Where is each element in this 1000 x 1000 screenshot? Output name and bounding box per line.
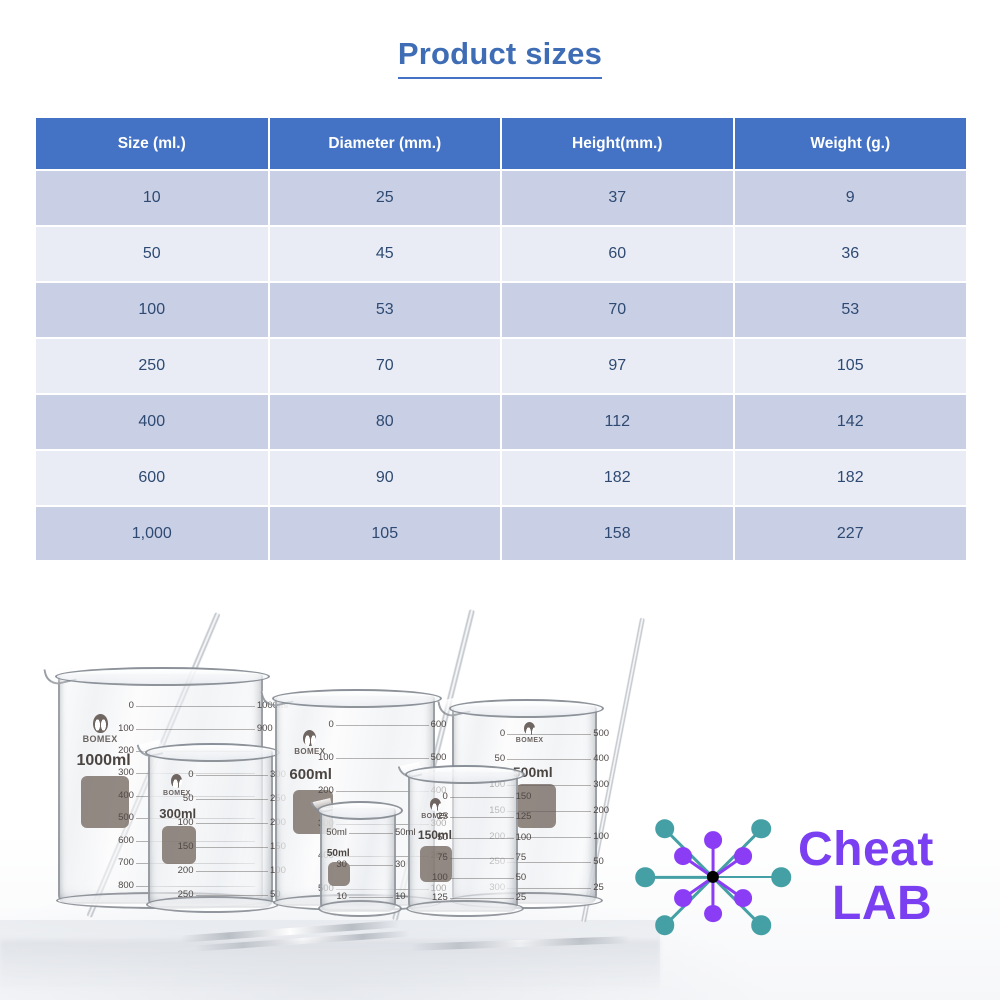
- graduation-line: 0600: [336, 725, 429, 726]
- graduation-label-left: 700: [118, 857, 134, 868]
- beaker-rim: [449, 699, 604, 718]
- graduation-line: 100500: [336, 758, 429, 759]
- graduation-label-left: 25: [437, 811, 448, 822]
- graduation-line: 7575: [450, 858, 514, 859]
- cell-weight: 53: [734, 282, 967, 338]
- cell-height: 112: [501, 394, 734, 450]
- beaker-volume-label: 50ml: [327, 848, 350, 859]
- cell-size: 100: [36, 282, 269, 338]
- graduation-label-right: 25: [593, 882, 604, 893]
- graduation-label-right: 500: [593, 728, 609, 739]
- graduation-label-left: 50: [183, 793, 194, 804]
- logo-line-cheat: Cheat: [798, 823, 968, 877]
- node-purple: [734, 889, 752, 907]
- cell-diameter: 70: [269, 338, 502, 394]
- graduation-line: 30025: [507, 888, 591, 889]
- graduation-line: 50ml50ml: [349, 833, 393, 834]
- graduation-label-left: 50: [437, 832, 448, 843]
- graduation-line: 25125: [450, 817, 514, 818]
- graduation-label-right: 200: [593, 805, 609, 816]
- cell-weight: 142: [734, 394, 967, 450]
- table-row: 1,000105158227: [36, 506, 966, 562]
- cell-height: 70: [501, 282, 734, 338]
- beaker-rim: [272, 689, 442, 708]
- node-purple: [674, 889, 692, 907]
- graduation-line: 3030: [349, 865, 393, 866]
- cell-weight: 36: [734, 226, 967, 282]
- node-teal: [655, 819, 675, 839]
- column-header-diameter: Diameter (mm.): [269, 118, 502, 170]
- graduation-label-left: 200: [178, 865, 194, 876]
- beaker-300ml: BOMEX 300ml 0300502501002001501502001002…: [148, 750, 273, 908]
- graduation-line: 1010: [349, 897, 393, 898]
- table-row: 50456036: [36, 226, 966, 282]
- graduation-label-left: 250: [178, 889, 194, 900]
- graduation-label-right: 300: [593, 779, 609, 790]
- graduation-label-right: 125: [516, 811, 532, 822]
- table-header-row: Size (ml.) Diameter (mm.) Height(mm.) We…: [36, 118, 966, 170]
- graduation-line: 200100: [196, 871, 269, 872]
- product-sizes-table: Size (ml.) Diameter (mm.) Height(mm.) We…: [36, 118, 966, 563]
- graduation-label-right: 50: [516, 872, 527, 883]
- cell-height: 158: [501, 506, 734, 562]
- surface-reflection: [0, 940, 660, 1000]
- graduation-label-right: 50ml: [395, 827, 416, 838]
- graduation-label-right: 100: [516, 832, 532, 843]
- graduation-label-left: 100: [118, 723, 134, 734]
- cell-diameter: 45: [269, 226, 502, 282]
- graduation-label-right: 50: [593, 856, 604, 867]
- graduation-line: 12525: [450, 898, 514, 899]
- cell-size: 250: [36, 338, 269, 394]
- beaker-graduation-scale: 0150251255010075751005012525: [450, 797, 514, 898]
- graduation-line: 100200: [196, 823, 269, 824]
- node-purple: [704, 905, 722, 923]
- column-header-size: Size (ml.): [36, 118, 269, 170]
- cell-diameter: 105: [269, 506, 502, 562]
- beaker-50ml: 50ml 50ml50ml30301010: [320, 808, 396, 912]
- cell-size: 10: [36, 170, 269, 226]
- graduation-label-left: 100: [432, 872, 448, 883]
- graduation-line: 100300: [507, 785, 591, 786]
- graduation-label-left: 0: [329, 719, 334, 730]
- beaker-brand-bomex: BOMEX: [83, 714, 118, 744]
- cell-diameter: 90: [269, 450, 502, 506]
- graduation-line: 0300: [196, 775, 269, 776]
- cell-size: 50: [36, 226, 269, 282]
- graduation-line: 0500: [507, 734, 591, 735]
- beaker-rim: [55, 667, 270, 686]
- beaker-rim: [317, 801, 403, 820]
- page-title: Product sizes: [398, 36, 602, 79]
- beaker-graduation-scale: 03005025010020015015020010025050: [196, 775, 269, 895]
- graduation-line: 50250: [196, 799, 269, 800]
- cell-height: 60: [501, 226, 734, 282]
- table-row: 1025379: [36, 170, 966, 226]
- cell-height: 37: [501, 170, 734, 226]
- cell-diameter: 25: [269, 170, 502, 226]
- cell-weight: 105: [734, 338, 967, 394]
- graduation-line: 150150: [196, 847, 269, 848]
- beaker-base: [146, 896, 279, 913]
- graduation-label-right: 10: [395, 891, 406, 902]
- graduation-label-right: 900: [257, 723, 273, 734]
- cell-diameter: 80: [269, 394, 502, 450]
- graduation-label-left: 200: [318, 785, 334, 796]
- cell-size: 600: [36, 450, 269, 506]
- graduation-label-left: 800: [118, 880, 134, 891]
- beaker-rim: [405, 765, 525, 784]
- graduation-label-right: 600: [431, 719, 447, 730]
- table-row: 40080112142: [36, 394, 966, 450]
- beaker-base: [318, 900, 402, 917]
- graduation-label-left: 300: [118, 767, 134, 778]
- graduation-label-left: 75: [437, 852, 448, 863]
- logo-line-lab: LAB: [798, 877, 968, 931]
- graduation-line: 0150: [450, 797, 514, 798]
- graduation-label-left: 100: [318, 752, 334, 763]
- table-body: 1025379504560361005370532507097105400801…: [36, 170, 966, 562]
- graduation-line: 100900: [136, 729, 255, 730]
- cheat-lab-logo: Cheat LAB: [628, 792, 968, 962]
- cell-size: 1,000: [36, 506, 269, 562]
- node-teal: [635, 867, 655, 887]
- graduation-label-left: 150: [178, 841, 194, 852]
- node-graph-icon: [628, 792, 798, 962]
- graduation-label-left: 0: [188, 769, 193, 780]
- cell-diameter: 53: [269, 282, 502, 338]
- cell-height: 182: [501, 450, 734, 506]
- graduation-label-right: 150: [516, 791, 532, 802]
- table-row: 2507097105: [36, 338, 966, 394]
- node-teal: [751, 915, 771, 935]
- graduation-label-left: 0: [129, 700, 134, 711]
- beaker-volume-label: 600ml: [289, 766, 332, 783]
- node-purple: [734, 847, 752, 865]
- cell-weight: 227: [734, 506, 967, 562]
- graduation-label-left: 125: [432, 892, 448, 903]
- graduation-line: 25050: [196, 895, 269, 896]
- table-row: 60090182182: [36, 450, 966, 506]
- graduation-label-right: 500: [431, 752, 447, 763]
- node-teal: [655, 915, 675, 935]
- cell-weight: 182: [734, 450, 967, 506]
- graduation-label-right: 400: [593, 753, 609, 764]
- logo-wordmark: Cheat LAB: [798, 823, 968, 931]
- product-sizes-table-zone: Cheat LAB Size (ml.) Diameter (mm.) Heig…: [36, 118, 966, 538]
- node-purple: [674, 847, 692, 865]
- graduation-label-left: 500: [118, 812, 134, 823]
- graduation-label-right: 25: [516, 892, 527, 903]
- graduation-line: 50400: [507, 759, 591, 760]
- column-header-weight: Weight (g.): [734, 118, 967, 170]
- graduation-line: 50100: [450, 838, 514, 839]
- graduation-label-right: 100: [593, 831, 609, 842]
- cell-height: 97: [501, 338, 734, 394]
- node-purple: [704, 832, 722, 850]
- graduation-label-left: 50: [495, 753, 506, 764]
- page-title-wrap: Product sizes: [0, 36, 1000, 79]
- graduation-label-left: 600: [118, 835, 134, 846]
- table-row: 100537053: [36, 282, 966, 338]
- node-edge: [645, 876, 713, 879]
- beaker-graduation-scale: 50ml50ml30301010: [349, 833, 393, 897]
- node-teal: [771, 867, 791, 887]
- cell-size: 400: [36, 394, 269, 450]
- graduation-label-left: 100: [178, 817, 194, 828]
- graduation-label-left: 400: [118, 790, 134, 801]
- graduation-label-right: 30: [395, 859, 406, 870]
- node-teal: [751, 819, 771, 839]
- graduation-label-left: 50ml: [326, 827, 347, 838]
- graduation-label-left: 0: [443, 791, 448, 802]
- column-header-height: Height(mm.): [501, 118, 734, 170]
- graduation-label-left: 0: [500, 728, 505, 739]
- graduation-label-left: 200: [118, 745, 134, 756]
- graduation-line: 01000ml: [136, 706, 255, 707]
- beaker-rim: [145, 743, 280, 762]
- beaker-150ml: BOMEX 150ml 0150251255010075751005012525: [408, 772, 518, 912]
- graduation-label-left: 10: [336, 891, 347, 902]
- beaker-base: [406, 900, 524, 917]
- graduation-label-left: 30: [336, 859, 347, 870]
- cell-weight: 9: [734, 170, 967, 226]
- graduation-label-right: 75: [516, 852, 527, 863]
- graduation-line: 10050: [450, 878, 514, 879]
